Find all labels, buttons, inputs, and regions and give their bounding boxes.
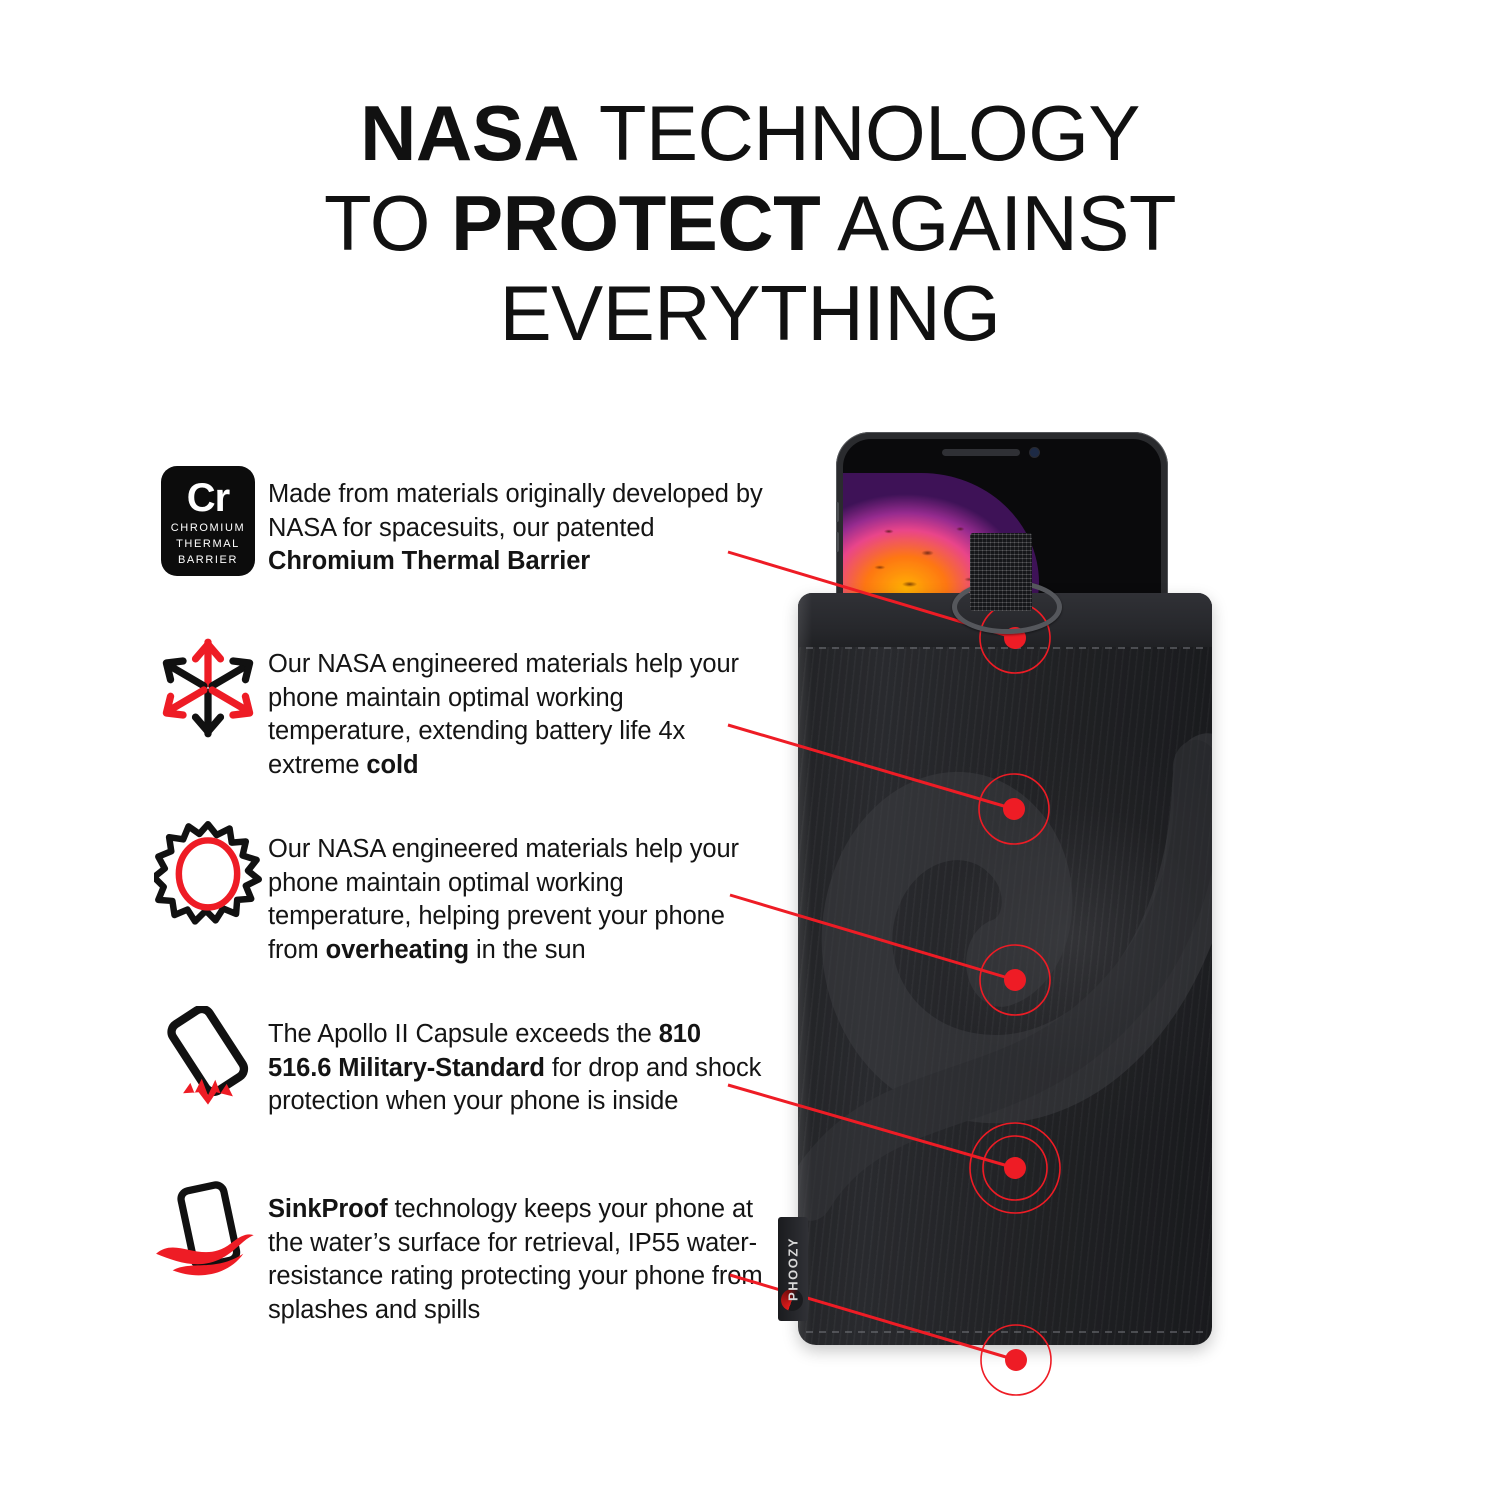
earpiece-speaker-icon xyxy=(942,449,1020,456)
headline-nasa: NASA xyxy=(360,89,579,177)
feature-text-pre: The Apollo II Capsule exceeds the xyxy=(268,1020,659,1048)
sleeve-seam-bottom xyxy=(806,1331,1204,1333)
headline-protect: PROTECT xyxy=(451,179,820,267)
brand-tab-label: PHOOZY xyxy=(786,1237,801,1301)
feature-text-post: in the sun xyxy=(469,936,586,964)
feature-text-drop-shock: The Apollo II Capsule exceeds the 810 51… xyxy=(268,1002,768,1119)
feature-item-overheating: Our NASA engineered materials help your … xyxy=(148,817,768,967)
headline-line-1: NASA TECHNOLOGY xyxy=(0,88,1500,178)
feature-text-bold: overheating xyxy=(326,936,469,964)
feature-text-cold: Our NASA engineered materials help your … xyxy=(268,632,768,782)
feature-text-bold: Chromium Thermal Barrier xyxy=(268,547,590,575)
chromium-thermal-barrier-badge-icon: Cr CHROMIUM THERMAL BARRIER xyxy=(148,462,268,580)
headline-to: TO xyxy=(324,179,451,267)
feature-text-overheating: Our NASA engineered materials help your … xyxy=(268,817,768,967)
headline-against: AGAINST xyxy=(820,179,1176,267)
volume-down-button xyxy=(836,532,839,552)
sleeve-swirl-graphic xyxy=(798,623,1212,1285)
volume-up-button xyxy=(836,502,839,522)
feature-text-pre: Our NASA engineered materials help your … xyxy=(268,650,739,779)
product-photo: PHOOZY xyxy=(780,415,1240,1375)
cr-badge-line-3: BARRIER xyxy=(178,552,238,568)
phone-drop-impact-icon xyxy=(148,1002,268,1120)
phone-water-wave-icon xyxy=(148,1177,268,1295)
cr-badge-line-1: CHROMIUM xyxy=(171,520,246,536)
sleeve-seam-top xyxy=(806,647,1204,649)
pull-strap[interactable] xyxy=(970,533,1032,611)
feature-item-chromium: Cr CHROMIUM THERMAL BARRIER Made from ma… xyxy=(148,462,768,580)
front-camera-icon xyxy=(1030,448,1039,457)
feature-item-sinkproof: SinkProof technology keeps your phone at… xyxy=(148,1177,768,1327)
feature-text-sinkproof: SinkProof technology keeps your phone at… xyxy=(268,1177,768,1327)
page-title: NASA TECHNOLOGY TO PROTECT AGAINST EVERY… xyxy=(0,88,1500,358)
feature-item-cold: Our NASA engineered materials help your … xyxy=(148,632,768,782)
feature-text-pre: Made from materials originally developed… xyxy=(268,480,763,542)
feature-text-bold: cold xyxy=(366,751,418,779)
brand-tab: PHOOZY xyxy=(778,1217,808,1321)
headline-line-3: EVERYTHING xyxy=(0,268,1500,358)
headline-technology: TECHNOLOGY xyxy=(579,89,1140,177)
feature-text-bold: SinkProof xyxy=(268,1195,388,1223)
headline-line-2: TO PROTECT AGAINST xyxy=(0,178,1500,268)
cr-badge: Cr CHROMIUM THERMAL BARRIER xyxy=(161,466,255,576)
phone-notch xyxy=(942,448,1062,457)
feature-text-chromium: Made from materials originally developed… xyxy=(268,462,768,579)
cr-symbol: Cr xyxy=(187,476,229,520)
snowflake-icon xyxy=(148,632,268,750)
feature-item-drop-shock: The Apollo II Capsule exceeds the 810 51… xyxy=(148,1002,768,1120)
phone-sleeve xyxy=(798,593,1212,1345)
sun-icon xyxy=(148,817,268,935)
cr-badge-line-2: THERMAL xyxy=(176,536,240,552)
